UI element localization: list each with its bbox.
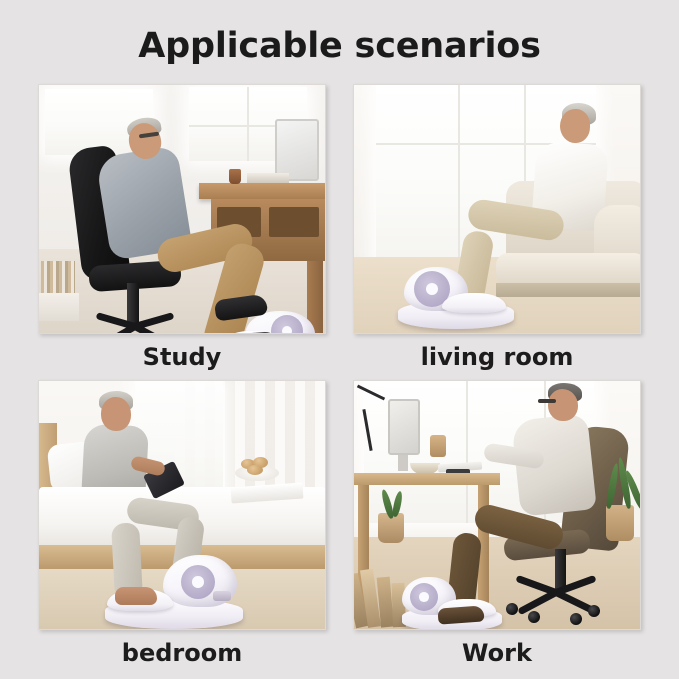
work-desk-top <box>353 473 500 485</box>
study-chair-base <box>93 317 179 334</box>
work-tall-plant-pot <box>606 505 634 541</box>
bedroom-bread <box>247 465 263 475</box>
scenario-card-bedroom[interactable]: bedroom <box>38 380 326 630</box>
scenario-label-study: Study <box>38 340 326 374</box>
scenario-card-work[interactable]: Work <box>353 380 641 630</box>
living-room-sofa-base <box>496 283 641 297</box>
foot-massager-device <box>217 323 326 334</box>
living-room-window-mullion <box>458 85 460 275</box>
scenario-grid: Study <box>38 84 641 654</box>
study-desk-top <box>199 183 326 199</box>
scenario-label-bedroom: bedroom <box>38 636 326 670</box>
scenario-photo-bedroom <box>38 380 326 630</box>
work-monitor <box>388 399 420 455</box>
scenario-collage: Applicable scenarios <box>0 0 679 679</box>
study-books-shelf <box>41 261 75 293</box>
study-scene <box>39 85 325 333</box>
study-window-mullion <box>247 87 249 161</box>
scenario-photo-work <box>353 380 641 630</box>
foot-massager-control <box>213 591 231 601</box>
study-mug <box>229 169 241 184</box>
scenario-label-work: Work <box>353 636 641 670</box>
living-room-scene <box>354 85 640 333</box>
bedroom-person-head <box>101 397 131 431</box>
living-room-sofa-seat <box>496 253 641 287</box>
scenario-card-living-room[interactable]: living room <box>353 84 641 334</box>
study-low-shelf <box>39 293 79 321</box>
scenario-card-study[interactable]: Study <box>38 84 326 334</box>
work-monitor-stand <box>398 455 408 471</box>
page-title: Applicable scenarios <box>0 24 679 68</box>
scenario-photo-living-room <box>353 84 641 334</box>
bedroom-person-foot <box>115 587 157 605</box>
scenario-label-living-room: living room <box>353 340 641 374</box>
study-monitor <box>275 119 319 181</box>
work-scene <box>354 381 640 629</box>
study-shelf-cubby <box>269 207 319 237</box>
study-desk-books <box>247 173 289 183</box>
foot-massager-disc <box>410 583 438 611</box>
work-jar <box>430 435 446 457</box>
foot-massager-device <box>398 283 514 329</box>
living-room-person-head <box>560 109 590 143</box>
bedroom-scene <box>39 381 325 629</box>
work-window-mullion <box>466 381 468 523</box>
work-person-glasses <box>538 399 556 403</box>
work-chair-base <box>508 583 604 615</box>
work-person-shoe <box>437 605 484 624</box>
scenario-photo-study <box>38 84 326 334</box>
work-person-head <box>548 389 578 421</box>
foot-massager-disc <box>181 565 215 599</box>
